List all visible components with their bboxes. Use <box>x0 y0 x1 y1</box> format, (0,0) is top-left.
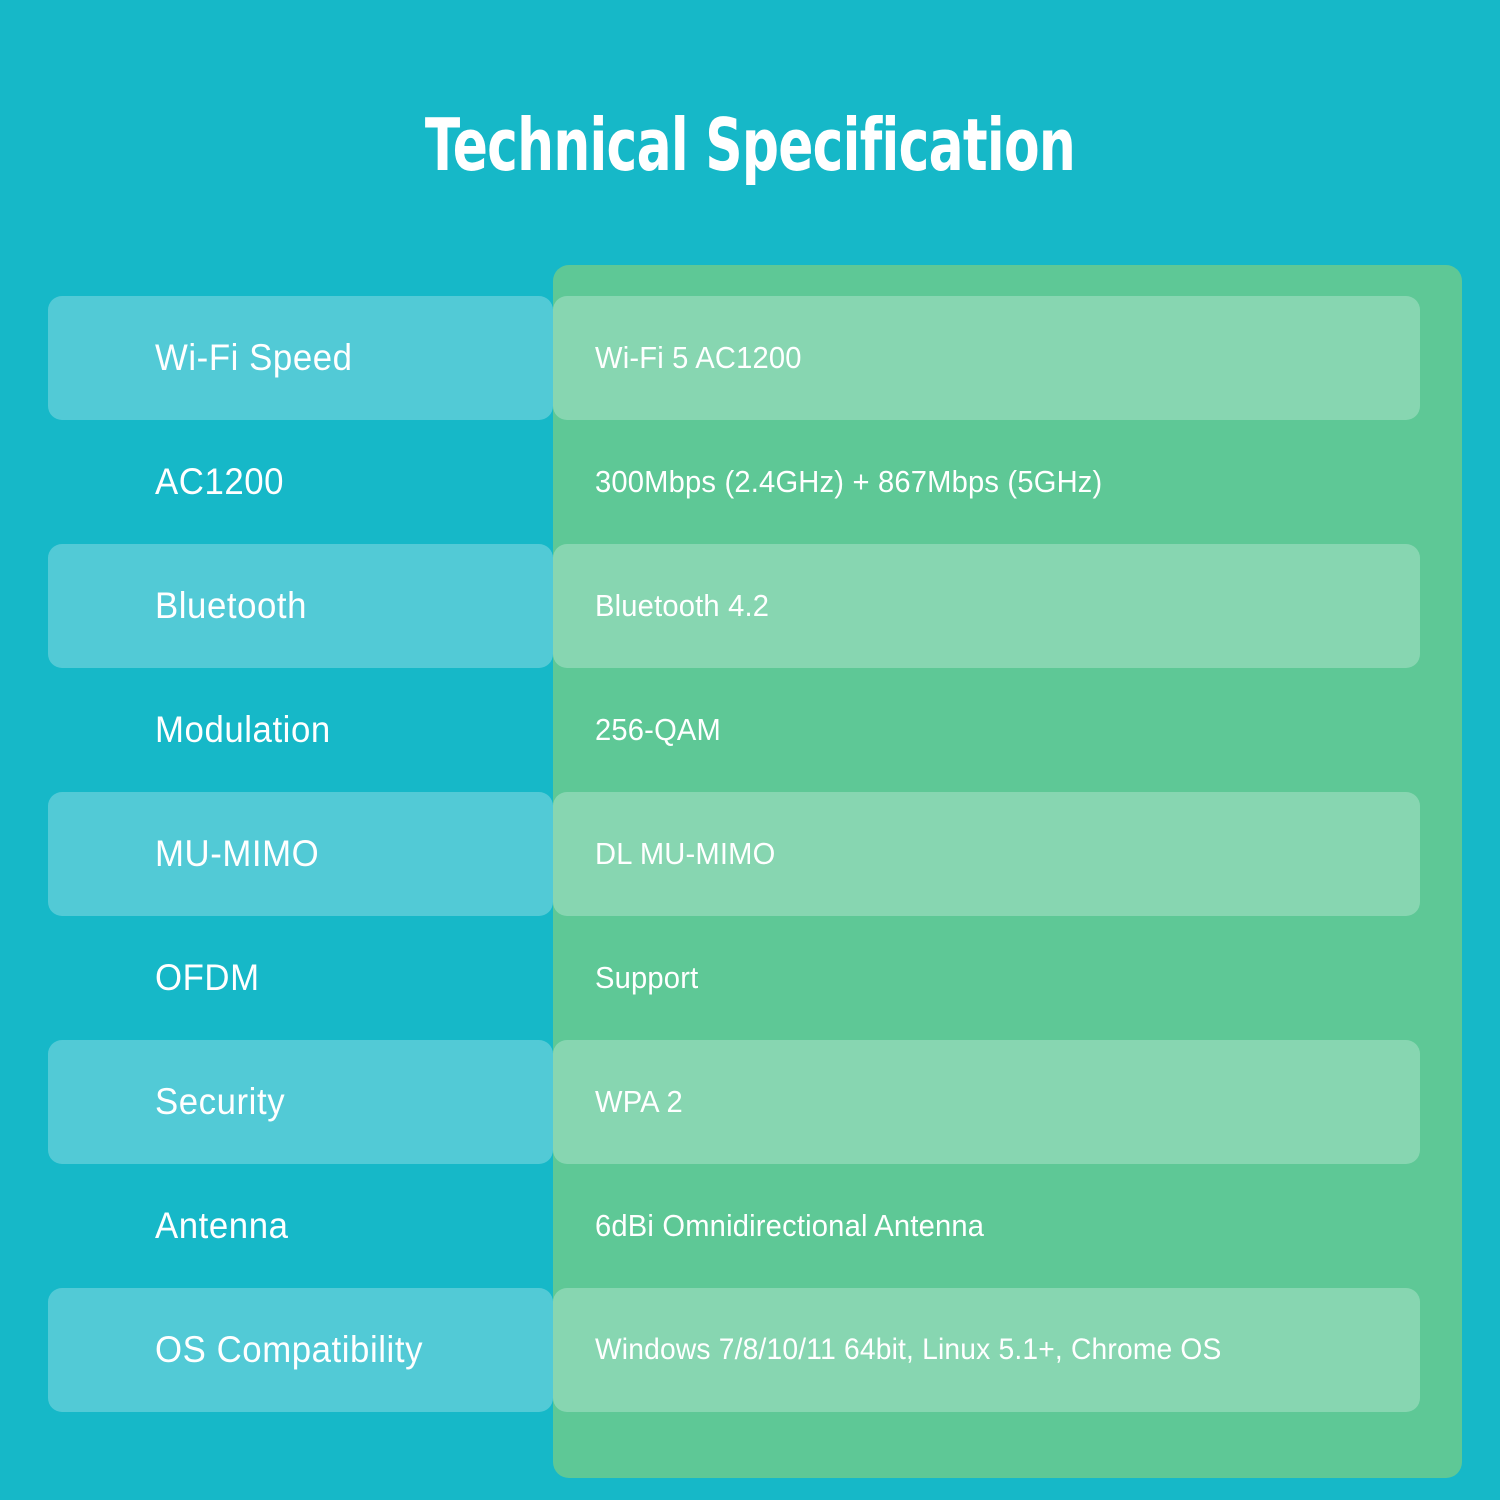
spec-label: OS Compatibility <box>155 1288 531 1412</box>
spec-label: Modulation <box>155 668 531 792</box>
spec-label: Antenna <box>155 1164 531 1288</box>
specification-table: Wi-Fi Speed Wi-Fi 5 AC1200 AC1200 300Mbp… <box>0 0 1500 1500</box>
spec-label: Security <box>155 1040 531 1164</box>
table-row: OS Compatibility Windows 7/8/10/11 64bit… <box>0 1288 1500 1412</box>
spec-label: OFDM <box>155 916 531 1040</box>
table-row: Wi-Fi Speed Wi-Fi 5 AC1200 <box>0 296 1500 420</box>
table-row: Antenna 6dBi Omnidirectional Antenna <box>0 1164 1500 1288</box>
table-row: AC1200 300Mbps (2.4GHz) + 867Mbps (5GHz) <box>0 420 1500 544</box>
spec-label: Bluetooth <box>155 544 531 668</box>
spec-value: 256-QAM <box>595 668 1422 792</box>
spec-value: Support <box>595 916 1422 1040</box>
table-row: Modulation 256-QAM <box>0 668 1500 792</box>
spec-value: Bluetooth 4.2 <box>595 544 1422 668</box>
table-row: Security WPA 2 <box>0 1040 1500 1164</box>
spec-value: Windows 7/8/10/11 64bit, Linux 5.1+, Chr… <box>595 1288 1422 1412</box>
spec-value: WPA 2 <box>595 1040 1422 1164</box>
spec-sheet: Technical Specification Wi-Fi Speed Wi-F… <box>0 0 1500 1500</box>
spec-label: Wi-Fi Speed <box>155 296 531 420</box>
spec-value: 6dBi Omnidirectional Antenna <box>595 1164 1422 1288</box>
table-row: Bluetooth Bluetooth 4.2 <box>0 544 1500 668</box>
spec-value: DL MU-MIMO <box>595 792 1422 916</box>
spec-value: 300Mbps (2.4GHz) + 867Mbps (5GHz) <box>595 420 1422 544</box>
spec-value: Wi-Fi 5 AC1200 <box>595 296 1422 420</box>
spec-label: AC1200 <box>155 420 531 544</box>
table-row: OFDM Support <box>0 916 1500 1040</box>
table-row: MU-MIMO DL MU-MIMO <box>0 792 1500 916</box>
spec-label: MU-MIMO <box>155 792 531 916</box>
